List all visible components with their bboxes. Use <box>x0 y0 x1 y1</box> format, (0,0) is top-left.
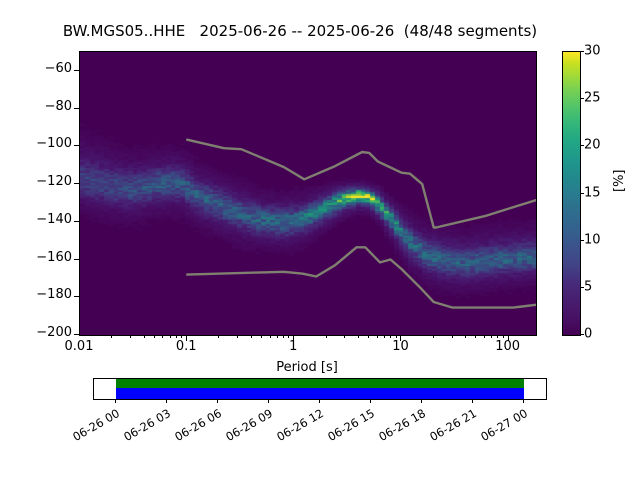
x-tick-minor <box>503 335 504 338</box>
colorbar-tick-mark <box>580 145 584 146</box>
x-tick-minor <box>162 335 163 338</box>
timeline-tick-label: 06-26 12 <box>269 406 326 447</box>
x-tick-label: 100 <box>495 339 520 354</box>
x-tick-minor <box>452 335 453 338</box>
x-tick-minor <box>491 335 492 338</box>
x-tick-minor <box>277 335 278 338</box>
colorbar-tick-mark <box>580 98 584 99</box>
x-tick-minor <box>218 335 219 338</box>
y-tick-label: −80 <box>12 99 72 114</box>
timeline-tick-label: 06-26 03 <box>116 406 173 447</box>
timeline-tick-mark <box>319 399 320 403</box>
colorbar-tick-mark <box>580 334 584 335</box>
x-tick-minor <box>326 335 327 338</box>
timeline-tick-label: 06-26 06 <box>167 406 224 447</box>
y-tick-label: −200 <box>12 325 72 340</box>
colorbar-tick-label: 20 <box>584 138 601 153</box>
x-tick-minor <box>111 335 112 338</box>
x-tick-minor <box>465 335 466 338</box>
x-axis-label: Period [s] <box>79 360 535 375</box>
x-tick-minor <box>358 335 359 338</box>
timeline-tick-mark <box>268 399 269 403</box>
timeline-tick-mark <box>370 399 371 403</box>
x-tick-minor <box>170 335 171 338</box>
x-tick-minor <box>377 335 378 338</box>
noise-model-nlnm <box>187 247 536 307</box>
y-tick-label: −140 <box>12 212 72 227</box>
colorbar-tick-label: 10 <box>584 232 601 247</box>
x-tick-minor <box>251 335 252 338</box>
x-tick-label: 10 <box>392 339 409 354</box>
x-tick-minor <box>130 335 131 338</box>
x-tick-minor <box>368 335 369 338</box>
x-tick-minor <box>176 335 177 338</box>
timeline-tick-label: 06-26 15 <box>320 406 377 447</box>
x-tick-minor <box>181 335 182 338</box>
x-tick-minor <box>344 335 345 338</box>
timeline-tick-mark <box>523 399 524 403</box>
timeline-tick-mark <box>166 399 167 403</box>
x-tick-minor <box>396 335 397 338</box>
timeline-tick-mark <box>217 399 218 403</box>
x-tick-minor <box>390 335 391 338</box>
colorbar-tick-mark <box>580 287 584 288</box>
x-tick-minor <box>154 335 155 338</box>
timeline-axis[interactable] <box>93 378 547 400</box>
y-tick-label: −160 <box>12 250 72 265</box>
psd-segments-bar <box>116 388 524 399</box>
y-tick-mark <box>74 221 79 222</box>
y-tick-mark <box>74 296 79 297</box>
y-tick-label: −60 <box>12 61 72 76</box>
timeline-tick-label: 06-26 09 <box>218 406 275 447</box>
timeline-tick-label: 06-26 00 <box>65 406 122 447</box>
x-tick-minor <box>497 335 498 338</box>
x-tick-label: 0.1 <box>176 339 197 354</box>
x-tick-minor <box>288 335 289 338</box>
data-coverage-bar <box>116 379 524 388</box>
y-tick-mark <box>74 334 79 335</box>
timeline-tick-mark <box>472 399 473 403</box>
colorbar-label: [%] <box>612 170 627 193</box>
x-tick-label: 0.01 <box>65 339 94 354</box>
timeline-tick-label: 06-26 21 <box>422 406 479 447</box>
x-tick-minor <box>433 335 434 338</box>
timeline-tick-label: 06-26 18 <box>371 406 428 447</box>
x-tick-minor <box>475 335 476 338</box>
timeline-tick-mark <box>115 399 116 403</box>
y-tick-mark <box>74 259 79 260</box>
colorbar-tick-mark <box>580 193 584 194</box>
timeline-tick-mark <box>421 399 422 403</box>
figure-title: BW.MGS05..HHE 2025-06-26 -- 2025-06-26 (… <box>0 22 600 40</box>
x-tick-minor <box>484 335 485 338</box>
y-tick-mark <box>74 70 79 71</box>
noise-model-nhnm <box>187 140 536 228</box>
x-tick-minor <box>384 335 385 338</box>
colorbar-tick-label: 30 <box>584 44 601 59</box>
colorbar[interactable] <box>562 51 581 336</box>
x-tick-minor <box>144 335 145 338</box>
colorbar-tick-mark <box>580 240 584 241</box>
x-tick-label: 1 <box>289 339 297 354</box>
x-tick-minor <box>261 335 262 338</box>
y-tick-mark <box>74 145 79 146</box>
y-tick-mark <box>74 108 79 109</box>
y-tick-label: −120 <box>12 174 72 189</box>
x-tick-minor <box>237 335 238 338</box>
colorbar-tick-label: 15 <box>584 185 601 200</box>
x-tick-minor <box>270 335 271 338</box>
ppsd-figure: BW.MGS05..HHE 2025-06-26 -- 2025-06-26 (… <box>0 0 640 480</box>
y-tick-label: −100 <box>12 136 72 151</box>
colorbar-tick-label: 5 <box>584 279 592 294</box>
colorbar-tick-mark <box>580 51 584 52</box>
ppsd-plot-area[interactable] <box>79 51 537 336</box>
y-tick-mark <box>74 183 79 184</box>
colorbar-tick-label: 25 <box>584 91 601 106</box>
noise-model-curves <box>80 52 536 335</box>
colorbar-tick-label: 0 <box>584 327 592 342</box>
timeline-tick-label: 06-27 00 <box>473 406 530 447</box>
x-tick-minor <box>283 335 284 338</box>
y-tick-label: −180 <box>12 287 72 302</box>
